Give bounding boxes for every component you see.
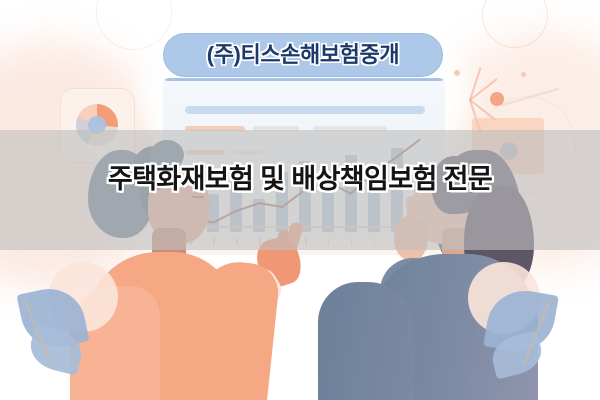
decor-dot-icon [521,72,526,77]
headline-container: 주택화재보험 및 배상책임보험 전문 [0,164,600,196]
company-name-pill: (주)티스손해보험중개 [163,33,443,77]
company-name-label: (주)티스손해보험중개 [207,44,399,66]
whiteboard-title-placeholder [185,106,425,114]
promo-banner: (주)티스손해보험중개 주택화재보험 및 배상책임보험 전문 [0,0,600,400]
decor-dot-icon [454,70,460,76]
whiteboard-top-bar [163,78,445,81]
headline-text: 주택화재보험 및 배상책임보험 전문 [108,164,492,196]
listener-right-shoulder [318,282,414,400]
